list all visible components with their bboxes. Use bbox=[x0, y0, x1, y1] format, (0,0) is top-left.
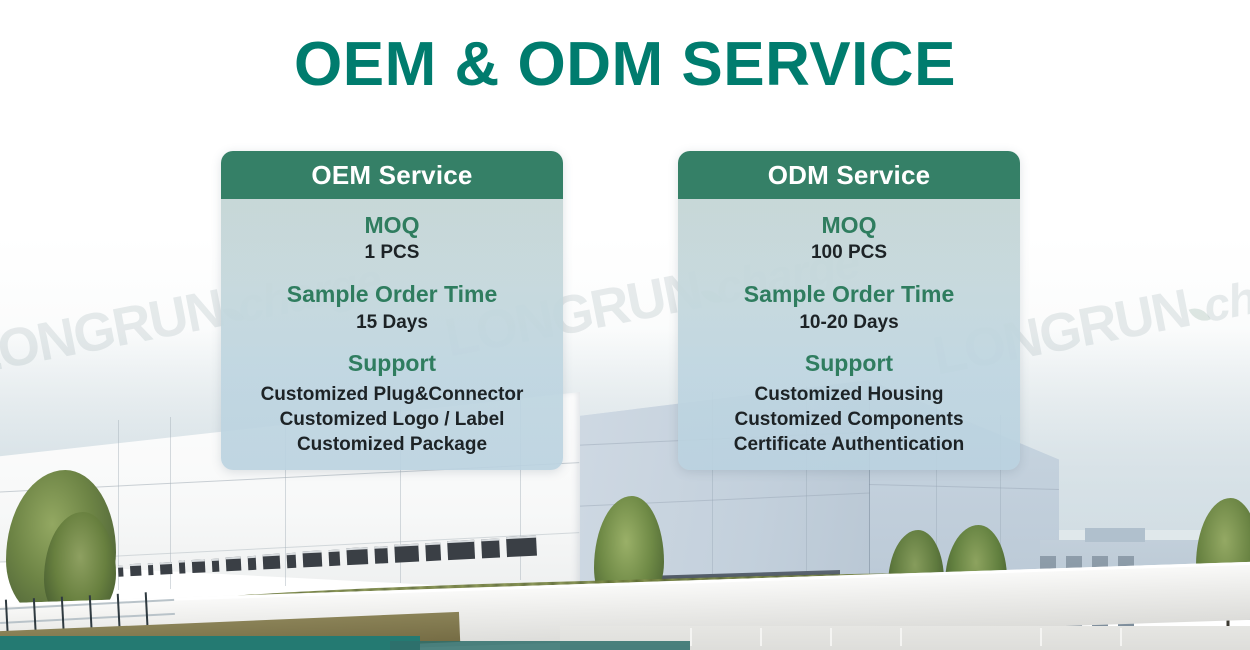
oem-support-item: Customized Logo / Label bbox=[229, 407, 555, 432]
bottom-accent-strip bbox=[390, 641, 690, 650]
odm-support-item: Customized Components bbox=[686, 407, 1012, 432]
oem-sample-order-time-value: 15 Days bbox=[229, 311, 555, 336]
parking-line bbox=[900, 628, 902, 646]
oem-support-item: Customized Plug&Connector bbox=[229, 382, 555, 407]
oem-support-label: Support bbox=[229, 349, 555, 378]
odm-card-body: MOQ 100 PCS Sample Order Time 10-20 Days… bbox=[678, 199, 1020, 470]
odm-moq-label: MOQ bbox=[686, 211, 1012, 240]
odm-support-item: Certificate Authentication bbox=[686, 432, 1012, 457]
odm-field-moq: MOQ 100 PCS bbox=[686, 211, 1012, 266]
oem-moq-label: MOQ bbox=[229, 211, 555, 240]
page-title: OEM & ODM SERVICE bbox=[0, 32, 1250, 97]
odm-support-item: Customized Housing bbox=[686, 382, 1012, 407]
parking-line bbox=[1120, 628, 1122, 646]
odm-card-header: ODM Service bbox=[678, 151, 1020, 199]
oem-field-support: Support Customized Plug&Connector Custom… bbox=[229, 349, 555, 457]
odm-support-label: Support bbox=[686, 349, 1012, 378]
parking-line bbox=[1040, 628, 1042, 646]
oem-service-card: OEM Service MOQ 1 PCS Sample Order Time … bbox=[221, 151, 563, 470]
oem-sample-order-time-label: Sample Order Time bbox=[229, 280, 555, 309]
parking-line bbox=[830, 628, 832, 646]
oem-moq-value: 1 PCS bbox=[229, 241, 555, 266]
oem-field-moq: MOQ 1 PCS bbox=[229, 211, 555, 266]
far-building-roof bbox=[1085, 528, 1145, 542]
odm-field-sample-order-time: Sample Order Time 10-20 Days bbox=[686, 280, 1012, 335]
odm-field-support: Support Customized Housing Customized Co… bbox=[686, 349, 1012, 457]
oem-card-body: MOQ 1 PCS Sample Order Time 15 Days Supp… bbox=[221, 199, 563, 470]
odm-support-list: Customized Housing Customized Components… bbox=[686, 382, 1012, 458]
oem-support-item: Customized Package bbox=[229, 432, 555, 457]
slide-canvas: LONGRUNcharge LONGRUNcharge LONGRUNcharg… bbox=[0, 0, 1250, 650]
bottom-accent-strip bbox=[0, 636, 420, 650]
odm-sample-order-time-value: 10-20 Days bbox=[686, 311, 1012, 336]
oem-field-sample-order-time: Sample Order Time 15 Days bbox=[229, 280, 555, 335]
oem-support-list: Customized Plug&Connector Customized Log… bbox=[229, 382, 555, 458]
parking-line bbox=[690, 628, 692, 646]
parking-line bbox=[760, 628, 762, 646]
odm-service-card: ODM Service MOQ 100 PCS Sample Order Tim… bbox=[678, 151, 1020, 470]
odm-sample-order-time-label: Sample Order Time bbox=[686, 280, 1012, 309]
oem-card-header: OEM Service bbox=[221, 151, 563, 199]
odm-moq-value: 100 PCS bbox=[686, 241, 1012, 266]
